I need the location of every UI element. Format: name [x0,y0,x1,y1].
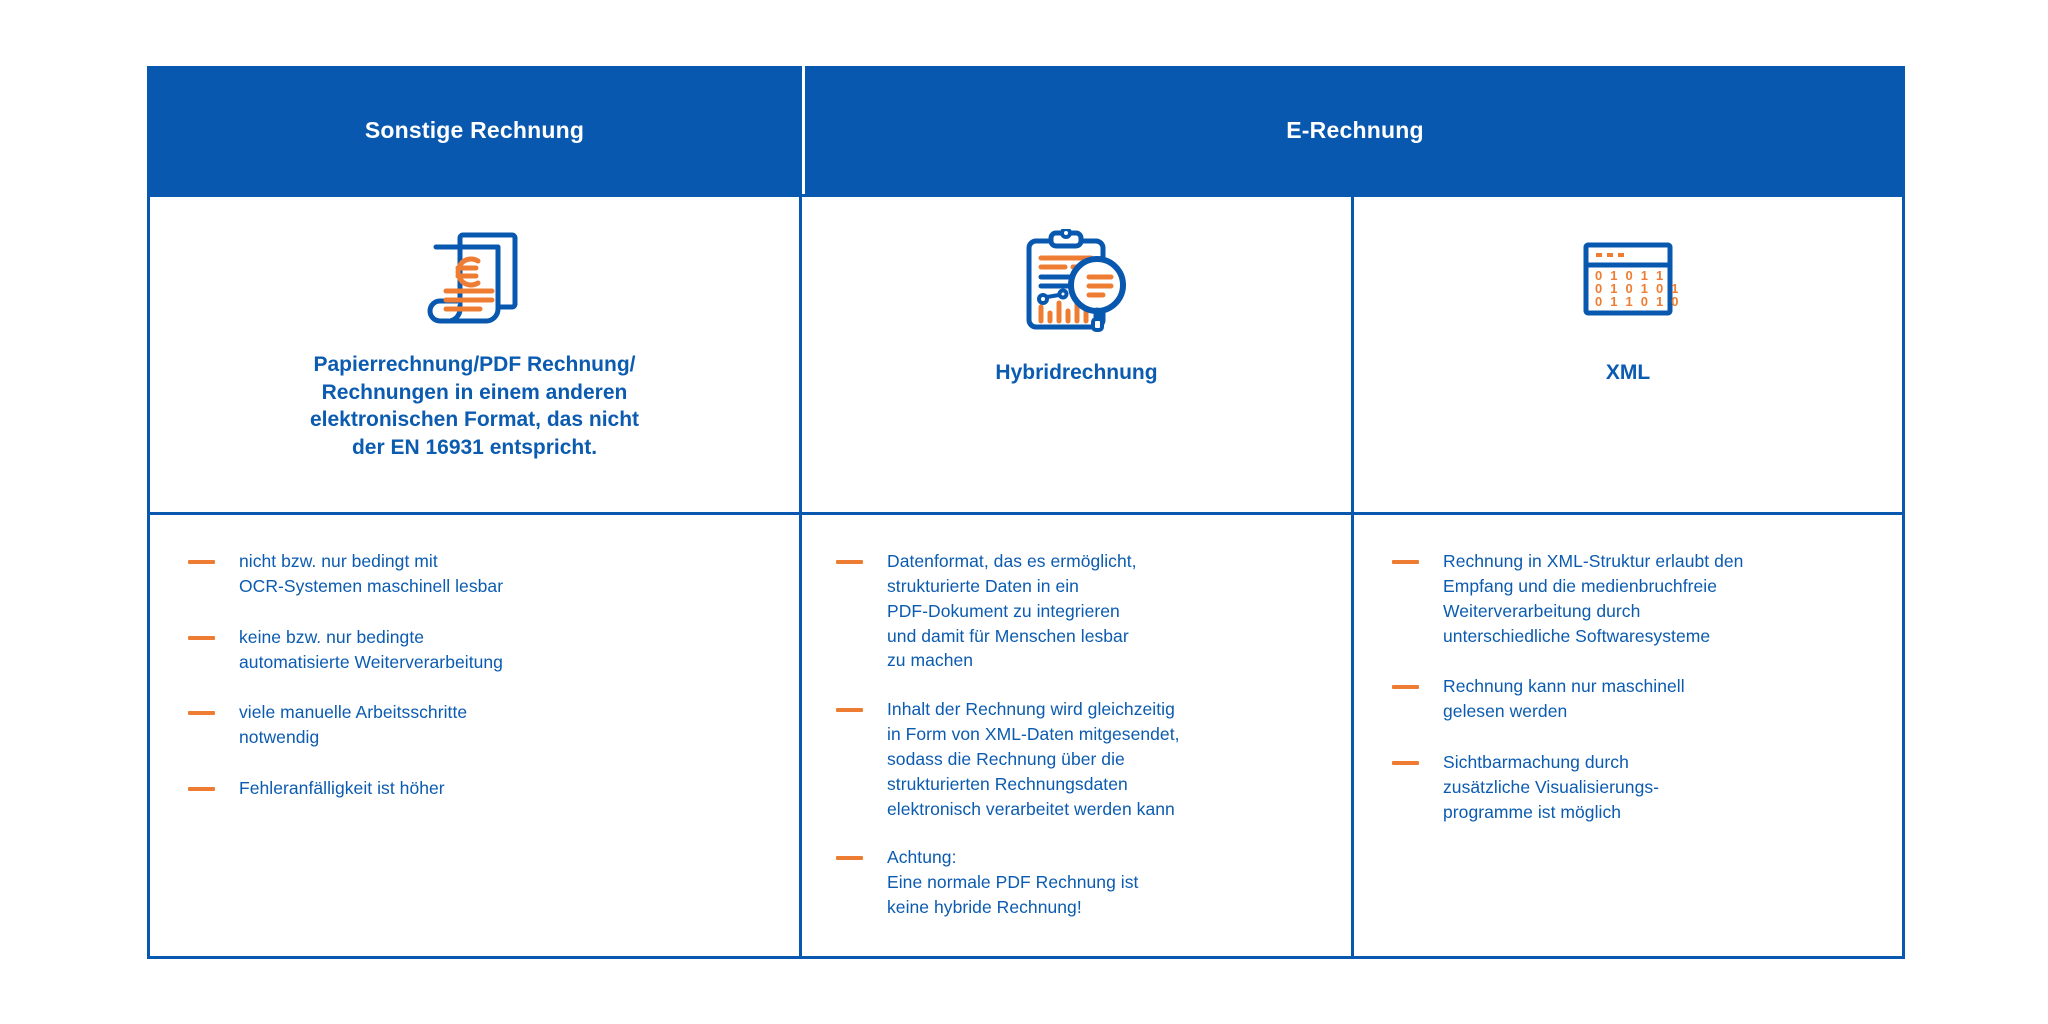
dash-bullet-icon [188,636,215,640]
bullet-text: viele manuelle Arbeitsschritte notwendig [239,700,467,750]
dash-bullet-icon [836,560,863,564]
invoice-euro-document-icon [422,229,528,333]
svg-text:0 1 1 0 1 0 1 1: 0 1 1 0 1 0 1 1 [1595,294,1678,309]
bullet-list-sonstige-rechnung: nicht bzw. nur bedingt mit OCR-Systemen … [188,549,773,801]
bullet-text: Sichtbarmachung durch zusätzliche Visual… [1443,750,1659,825]
table-row-icons: Papierrechnung/PDF Rechnung/ Rechnungen … [150,197,1902,515]
bullet-text: Datenformat, das es ermöglicht, struktur… [887,549,1137,673]
column-hybridrechnung-bullets: Datenformat, das es ermöglicht, struktur… [802,515,1354,956]
dash-bullet-icon [836,856,863,860]
header-cell-e-rechnung: E-Rechnung [805,66,1905,194]
list-item: Rechnung in XML-Struktur erlaubt den Emp… [1392,549,1876,648]
list-item: Rechnung kann nur maschinell gelesen wer… [1392,674,1876,724]
column-hybridrechnung-top: Hybridrechnung [802,197,1354,512]
table-row-bullets: nicht bzw. nur bedingt mit OCR-Systemen … [150,515,1902,956]
header-title-e-rechnung: E-Rechnung [1286,119,1423,142]
dash-bullet-icon [1392,685,1419,689]
bullet-list-hybridrechnung: Datenformat, das es ermöglicht, struktur… [836,549,1325,920]
comparison-table: Sonstige Rechnung E-Rechnung [147,66,1905,959]
binary-code-window-icon: 0 1 0 1 1 0 1 0 1 0 1 0 1 1 0 1 0 1 1 [1578,229,1678,333]
dash-bullet-icon [1392,761,1419,765]
caption-sonstige-rechnung: Papierrechnung/PDF Rechnung/ Rechnungen … [296,351,653,462]
dash-bullet-icon [188,560,215,564]
table-body: Papierrechnung/PDF Rechnung/ Rechnungen … [147,194,1905,959]
dash-bullet-icon [1392,560,1419,564]
list-item: nicht bzw. nur bedingt mit OCR-Systemen … [188,549,773,599]
bullet-text: Achtung: Eine normale PDF Rechnung ist k… [887,845,1138,920]
column-xml-bullets: Rechnung in XML-Struktur erlaubt den Emp… [1354,515,1902,956]
caption-xml: XML [1592,359,1664,387]
caption-hybridrechnung: Hybridrechnung [981,359,1171,387]
list-item: Fehleranfälligkeit ist höher [188,776,773,801]
header-title-sonstige-rechnung: Sonstige Rechnung [365,119,584,142]
list-item: Sichtbarmachung durch zusätzliche Visual… [1392,750,1876,825]
clipboard-magnifier-analysis-icon [1021,229,1133,333]
bullet-text: Fehleranfälligkeit ist höher [239,776,445,801]
list-item: Datenformat, das es ermöglicht, struktur… [836,549,1325,673]
header-cell-sonstige-rechnung: Sonstige Rechnung [147,66,802,194]
bullet-text: Rechnung in XML-Struktur erlaubt den Emp… [1443,549,1743,648]
dash-bullet-icon [836,708,863,712]
list-item: keine bzw. nur bedingte automatisierte W… [188,625,773,675]
list-item: Achtung: Eine normale PDF Rechnung ist k… [836,845,1325,920]
dash-bullet-icon [188,787,215,791]
column-xml-top: 0 1 0 1 1 0 1 0 1 0 1 0 1 1 0 1 0 1 1 XM… [1354,197,1902,512]
dash-bullet-icon [188,711,215,715]
comparison-infographic: Sonstige Rechnung E-Rechnung [0,0,2048,1024]
table-header-row: Sonstige Rechnung E-Rechnung [147,66,1905,194]
list-item: Inhalt der Rechnung wird gleichzeitig in… [836,697,1325,821]
bullet-text: Rechnung kann nur maschinell gelesen wer… [1443,674,1685,724]
column-sonstige-rechnung-top: Papierrechnung/PDF Rechnung/ Rechnungen … [150,197,802,512]
column-sonstige-rechnung-bullets: nicht bzw. nur bedingt mit OCR-Systemen … [150,515,802,956]
bullet-text: Inhalt der Rechnung wird gleichzeitig in… [887,697,1180,821]
bullet-list-xml: Rechnung in XML-Struktur erlaubt den Emp… [1392,549,1876,825]
bullet-text: nicht bzw. nur bedingt mit OCR-Systemen … [239,549,503,599]
bullet-text: keine bzw. nur bedingte automatisierte W… [239,625,503,675]
list-item: viele manuelle Arbeitsschritte notwendig [188,700,773,750]
